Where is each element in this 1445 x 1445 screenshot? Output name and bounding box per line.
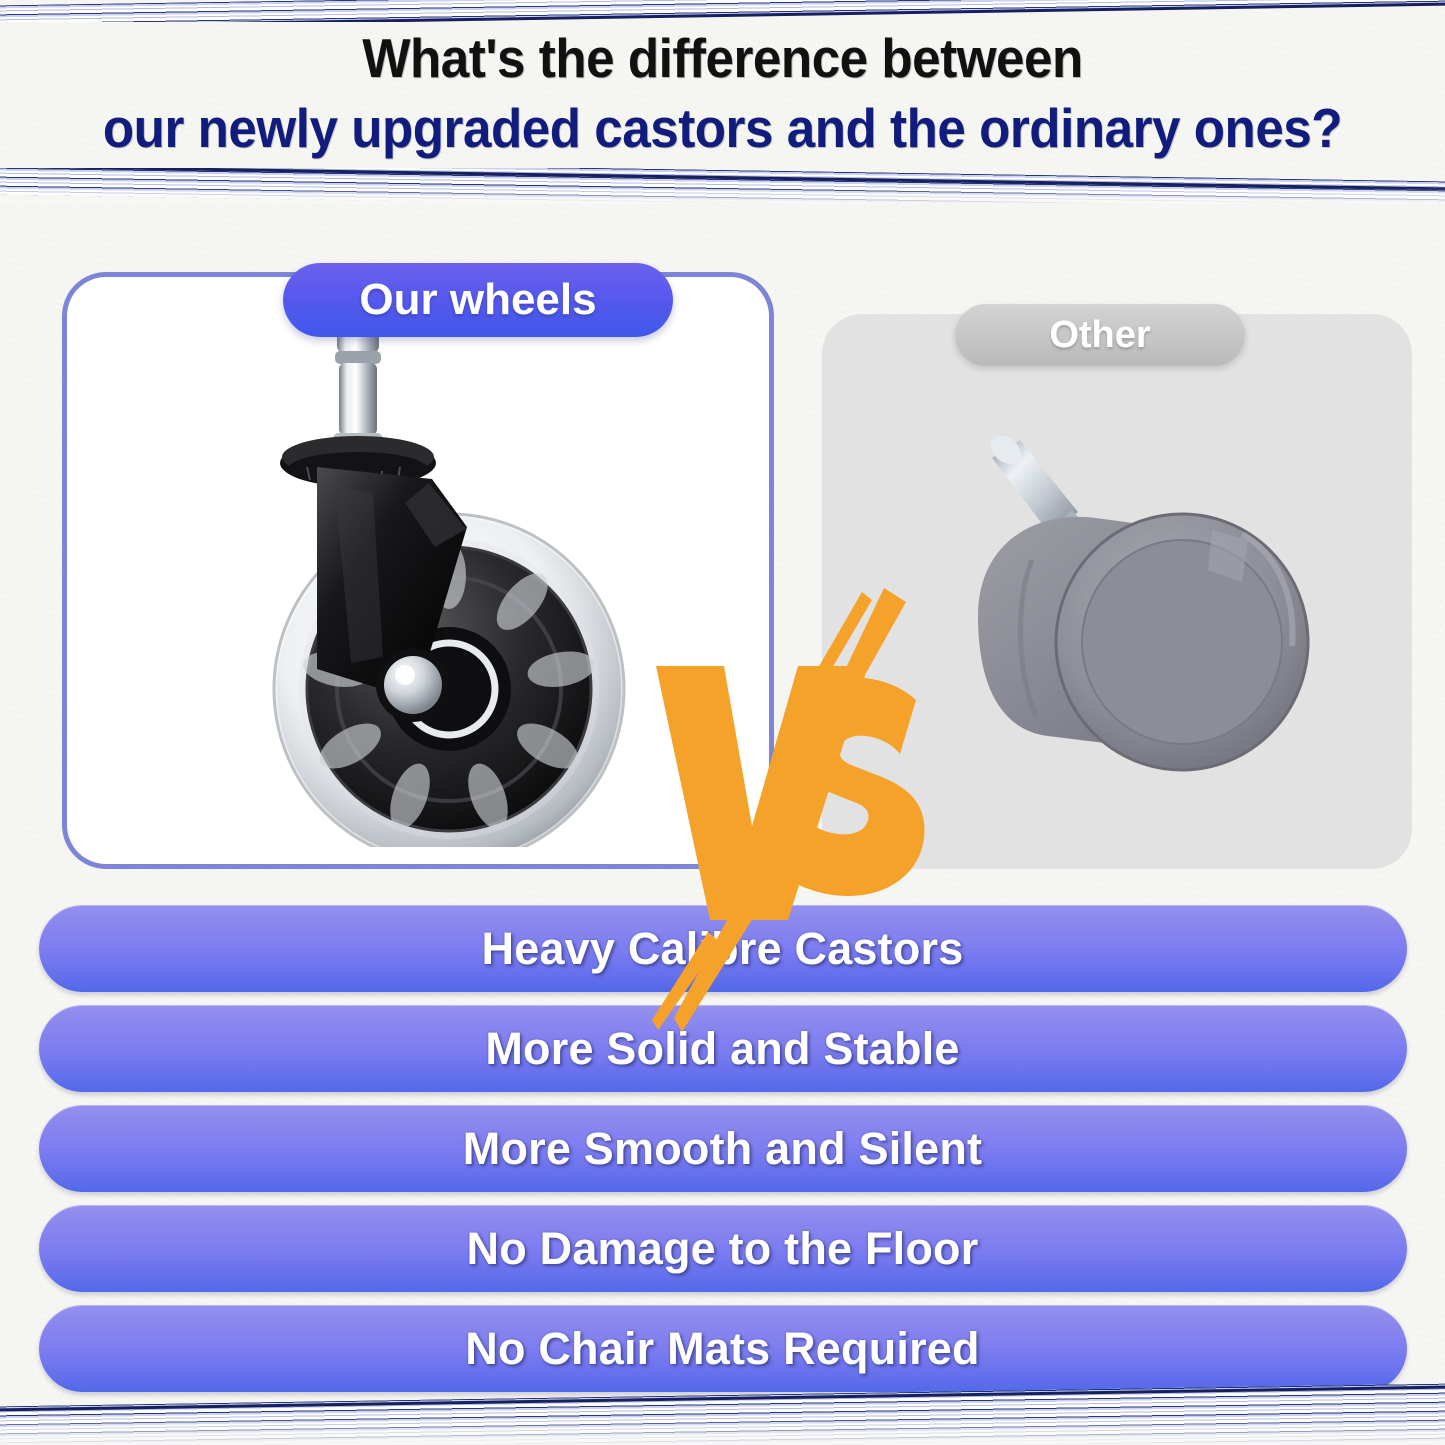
other-caster-body — [978, 514, 1308, 770]
feature-label: No Chair Mats Required — [465, 1323, 979, 1375]
decorative-top-band — [0, 0, 1445, 22]
band-edge-line — [0, 168, 1445, 191]
feature-bar[interactable]: No Damage to the Floor — [39, 1205, 1407, 1292]
our-wheel-illustration — [167, 317, 707, 847]
page-title-line-1: What's the difference between — [51, 28, 1395, 90]
infographic-page: What's the difference between our newly … — [0, 0, 1445, 1445]
page-title-question-mark: ? — [1311, 97, 1342, 159]
band-stripes — [0, 0, 1445, 22]
other-wheel-illustration — [882, 384, 1352, 814]
versus-graphic — [648, 580, 928, 1040]
our-wheels-badge[interactable]: Our wheels — [283, 263, 673, 337]
page-header: What's the difference between our newly … — [0, 28, 1445, 159]
versus-icon — [648, 580, 928, 1040]
caster-stem — [333, 327, 383, 447]
band-stripes — [0, 168, 1445, 204]
page-title-line-2: our newly upgraded castors and the ordin… — [51, 98, 1395, 160]
feature-label: No Damage to the Floor — [467, 1223, 979, 1275]
page-title-line-2-text: our newly upgraded castors and the ordin… — [103, 97, 1311, 159]
feature-label: More Smooth and Silent — [463, 1123, 982, 1175]
other-wheels-badge[interactable]: Other — [955, 304, 1245, 366]
comparison-section: Our wheels — [0, 250, 1445, 890]
caster-axle — [376, 648, 450, 722]
our-wheels-badge-label: Our wheels — [359, 275, 596, 325]
band-edge-line — [0, 2, 1445, 22]
other-wheels-badge-label: Other — [1049, 314, 1150, 357]
feature-bar[interactable]: More Smooth and Silent — [39, 1105, 1407, 1192]
feature-bar[interactable]: No Chair Mats Required — [39, 1305, 1407, 1392]
decorative-header-divider-band — [0, 168, 1445, 204]
